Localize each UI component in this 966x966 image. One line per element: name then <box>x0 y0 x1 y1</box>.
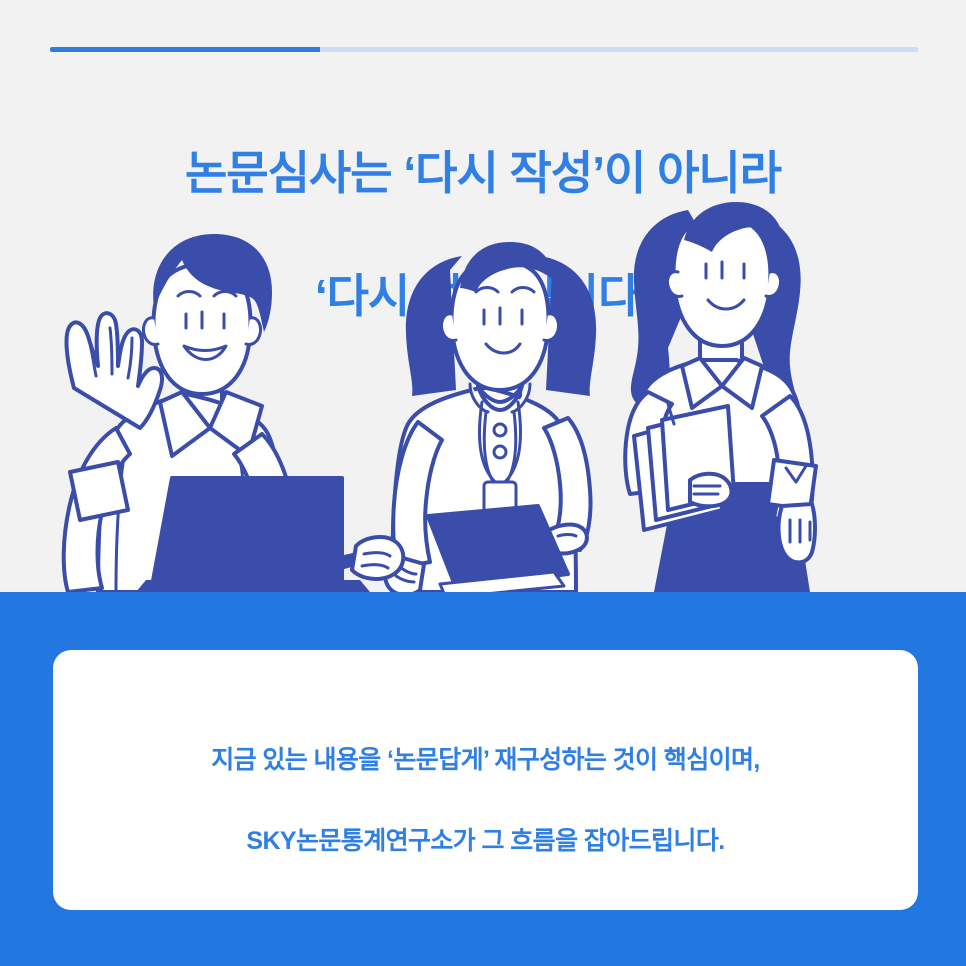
message-card-line-2: SKY논문통계연구소가 그 흐름을 잡아드립니다. <box>246 827 724 855</box>
message-card-text: 지금 있는 내용을 ‘논문답게’ 재구성하는 것이 핵심이며, SKY논문통계연… <box>175 699 796 861</box>
top-divider <box>50 47 918 52</box>
top-divider-strong-segment <box>50 47 320 52</box>
person-man-waving-with-laptop <box>64 234 370 592</box>
person-woman-holding-documents <box>625 202 816 592</box>
message-card-line-1: 지금 있는 내용을 ‘논문답게’ 재구성하는 것이 핵심이며, <box>211 746 760 774</box>
people-illustration: .ln { fill:none; stroke:#3a4daa; stroke-… <box>0 180 966 592</box>
poster-root: 논문심사는 ‘다시 작성’이 아니라 ‘다시 정리’입니다. .ln { fil… <box>0 0 966 966</box>
top-divider-light-segment <box>320 47 918 52</box>
message-card: 지금 있는 내용을 ‘논문답게’ 재구성하는 것이 핵심이며, SKY논문통계연… <box>53 650 918 910</box>
